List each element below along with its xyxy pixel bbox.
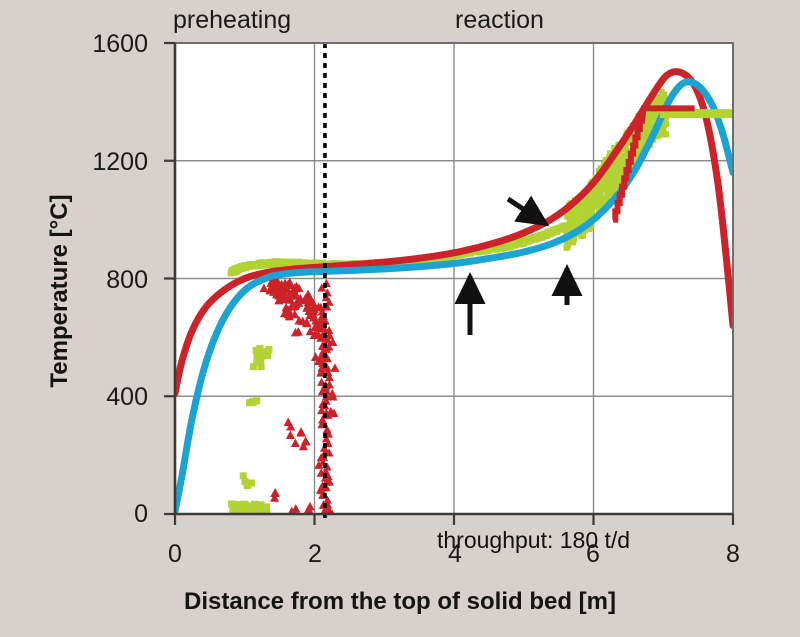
- x-axis-ticks: [175, 514, 733, 525]
- chart-figure: preheating reaction Temperature [°C] Dis…: [0, 0, 800, 637]
- y-axis-ticks: [164, 43, 175, 514]
- plot-area: [0, 0, 800, 637]
